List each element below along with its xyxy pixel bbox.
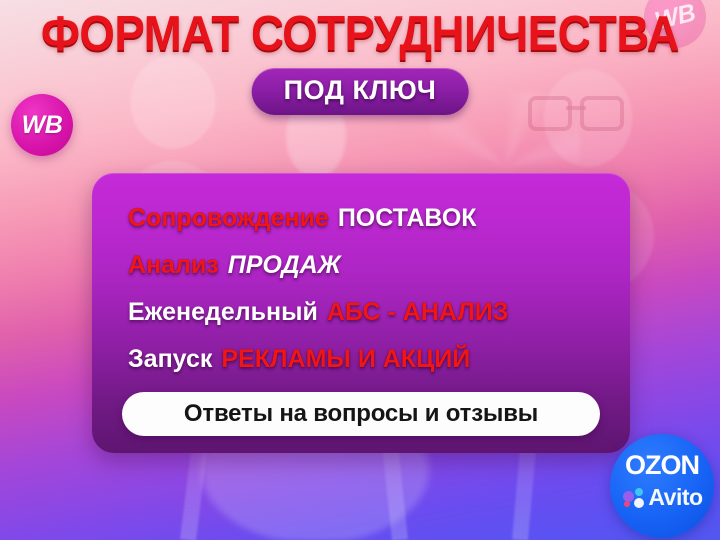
promo-poster: WB ФОРМАТ СОТРУДНИЧЕСТВА ПОД КЛЮЧ WB Соп… (0, 0, 720, 540)
answers-highlight-box: Ответы на вопросы и отзывы (122, 392, 600, 436)
page-title: ФОРМАТ СОТРУДНИЧЕСТВА (25, 10, 695, 59)
service-item: Анализ ПРОДАЖ (92, 242, 630, 289)
avito-dots-icon (623, 488, 644, 507)
service-item-red-text: Сопровождение (128, 206, 329, 231)
service-item-red-text: РЕКЛАМЫ И АКЦИЙ (221, 347, 470, 372)
service-item: Запуск РЕКЛАМЫ И АКЦИЙ (92, 336, 630, 383)
ozon-logo-label: OZON (610, 452, 714, 479)
marketplace-logos: OZON Avito (610, 434, 714, 538)
service-item: Сопровождение ПОСТАВОК (92, 195, 630, 242)
avito-logo-label: Avito (648, 486, 702, 509)
turnkey-badge: ПОД КЛЮЧ (252, 68, 469, 115)
avito-logo: Avito (614, 486, 712, 509)
services-panel: Сопровождение ПОСТАВОК Анализ ПРОДАЖ Еже… (92, 173, 630, 453)
service-item-white-text: Еженедельный (128, 300, 318, 325)
background-glasses-icon (528, 96, 624, 126)
service-item-red-text: Анализ (128, 253, 219, 278)
service-item-red-text: АБС - АНАЛИЗ (327, 300, 509, 325)
service-item: Еженедельный АБС - АНАЛИЗ (92, 289, 630, 336)
service-item-white-text: Запуск (128, 347, 212, 372)
wb-badge-primary: WB (11, 94, 73, 156)
answers-highlight-label: Ответы на вопросы и отзывы (184, 400, 538, 428)
service-item-white-text: ПОСТАВОК (338, 206, 477, 231)
service-item-white-text: ПРОДАЖ (228, 253, 341, 278)
